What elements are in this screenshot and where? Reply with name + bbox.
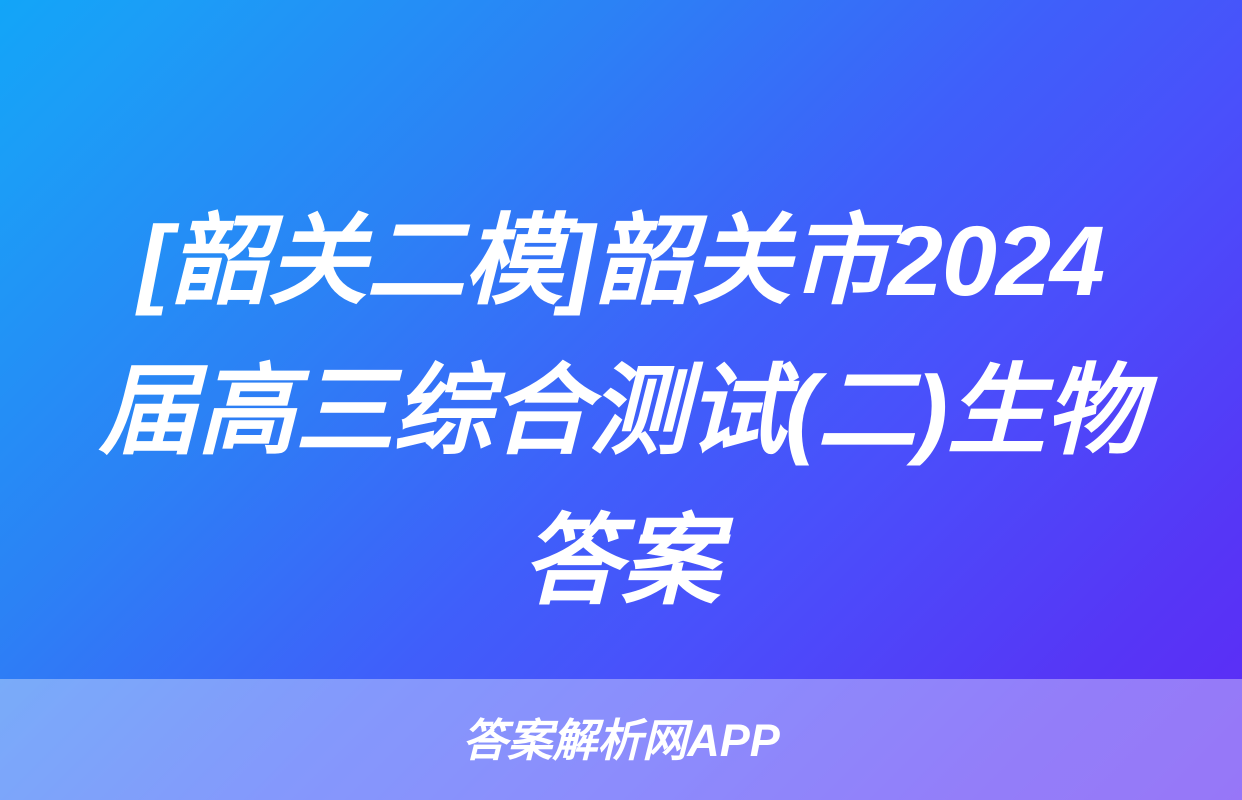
poster-canvas: [韶关二模]韶关市2024 届高三综合测试(二)生物 答案 答案解析网APP bbox=[0, 0, 1242, 800]
page-title-line-2: 届高三综合测试(二)生物 bbox=[0, 336, 1242, 486]
page-title-line-3: 答案 bbox=[0, 486, 1242, 636]
page-title: [韶关二模]韶关市2024 届高三综合测试(二)生物 答案 bbox=[0, 186, 1242, 636]
app-watermark-label: 答案解析网APP bbox=[462, 718, 780, 763]
page-title-line-1: [韶关二模]韶关市2024 bbox=[0, 186, 1242, 336]
footer-watermark-band: 答案解析网APP bbox=[0, 679, 1242, 800]
